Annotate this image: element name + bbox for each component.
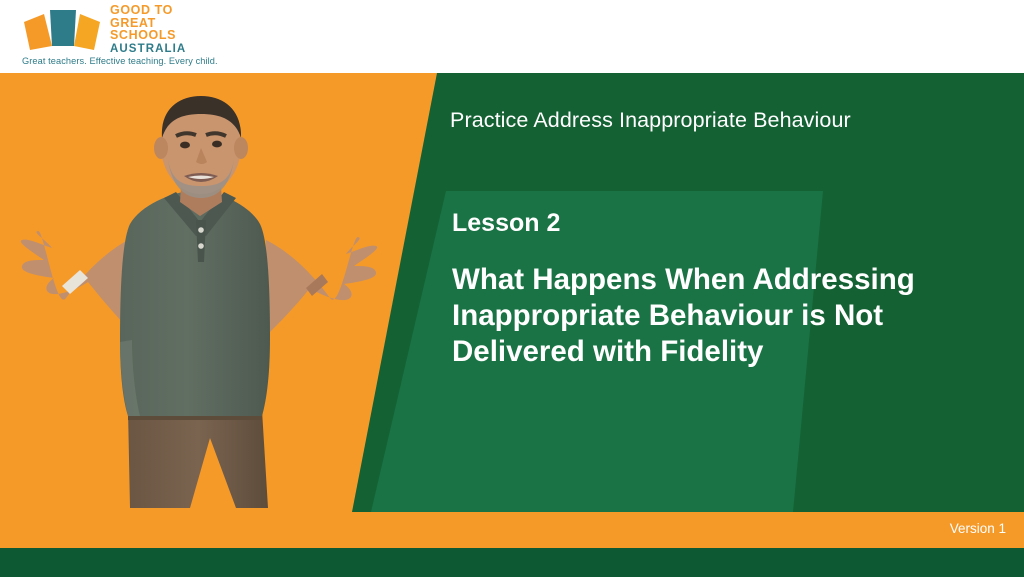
logo-center-card-icon — [50, 10, 76, 46]
logo-mark-icon — [22, 6, 104, 52]
footer-green-bar — [0, 548, 1024, 577]
presenter-button-top — [198, 227, 204, 233]
brand-tagline: Great teachers. Effective teaching. Ever… — [22, 56, 227, 66]
presenter-photo — [0, 90, 400, 530]
logo-line-good-to: GOOD TO — [110, 4, 222, 17]
version-label: Version 1 — [950, 521, 1006, 536]
logo-line-australia: AUSTRALIA — [110, 42, 222, 56]
logo-wordmark: GOOD TO GREAT SCHOOLS AUSTRALIA — [110, 4, 222, 56]
presenter-ear-left — [154, 137, 168, 159]
title-slide: Practice Address Inappropriate Behaviour… — [0, 0, 1024, 577]
logo-right-card-icon — [74, 14, 100, 50]
logo-left-card-icon — [24, 14, 52, 50]
footer-orange-bar — [0, 512, 1024, 548]
presenter-eye-right — [212, 141, 222, 148]
brand-logo: GOOD TO GREAT SCHOOLS AUSTRALIA Great te… — [22, 4, 222, 70]
lesson-label: Lesson 2 — [452, 209, 560, 238]
presenter-trousers — [128, 410, 268, 508]
logo-line-schools: SCHOOLS — [110, 29, 222, 42]
presenter-button-bottom — [198, 243, 204, 249]
presenter-ear-right — [234, 137, 248, 159]
header-band: GOOD TO GREAT SCHOOLS AUSTRALIA Great te… — [0, 0, 1024, 73]
course-label: Practice Address Inappropriate Behaviour — [450, 108, 990, 133]
presenter-eye-left — [180, 142, 190, 149]
slide-title: What Happens When Addressing Inappropria… — [452, 262, 997, 370]
